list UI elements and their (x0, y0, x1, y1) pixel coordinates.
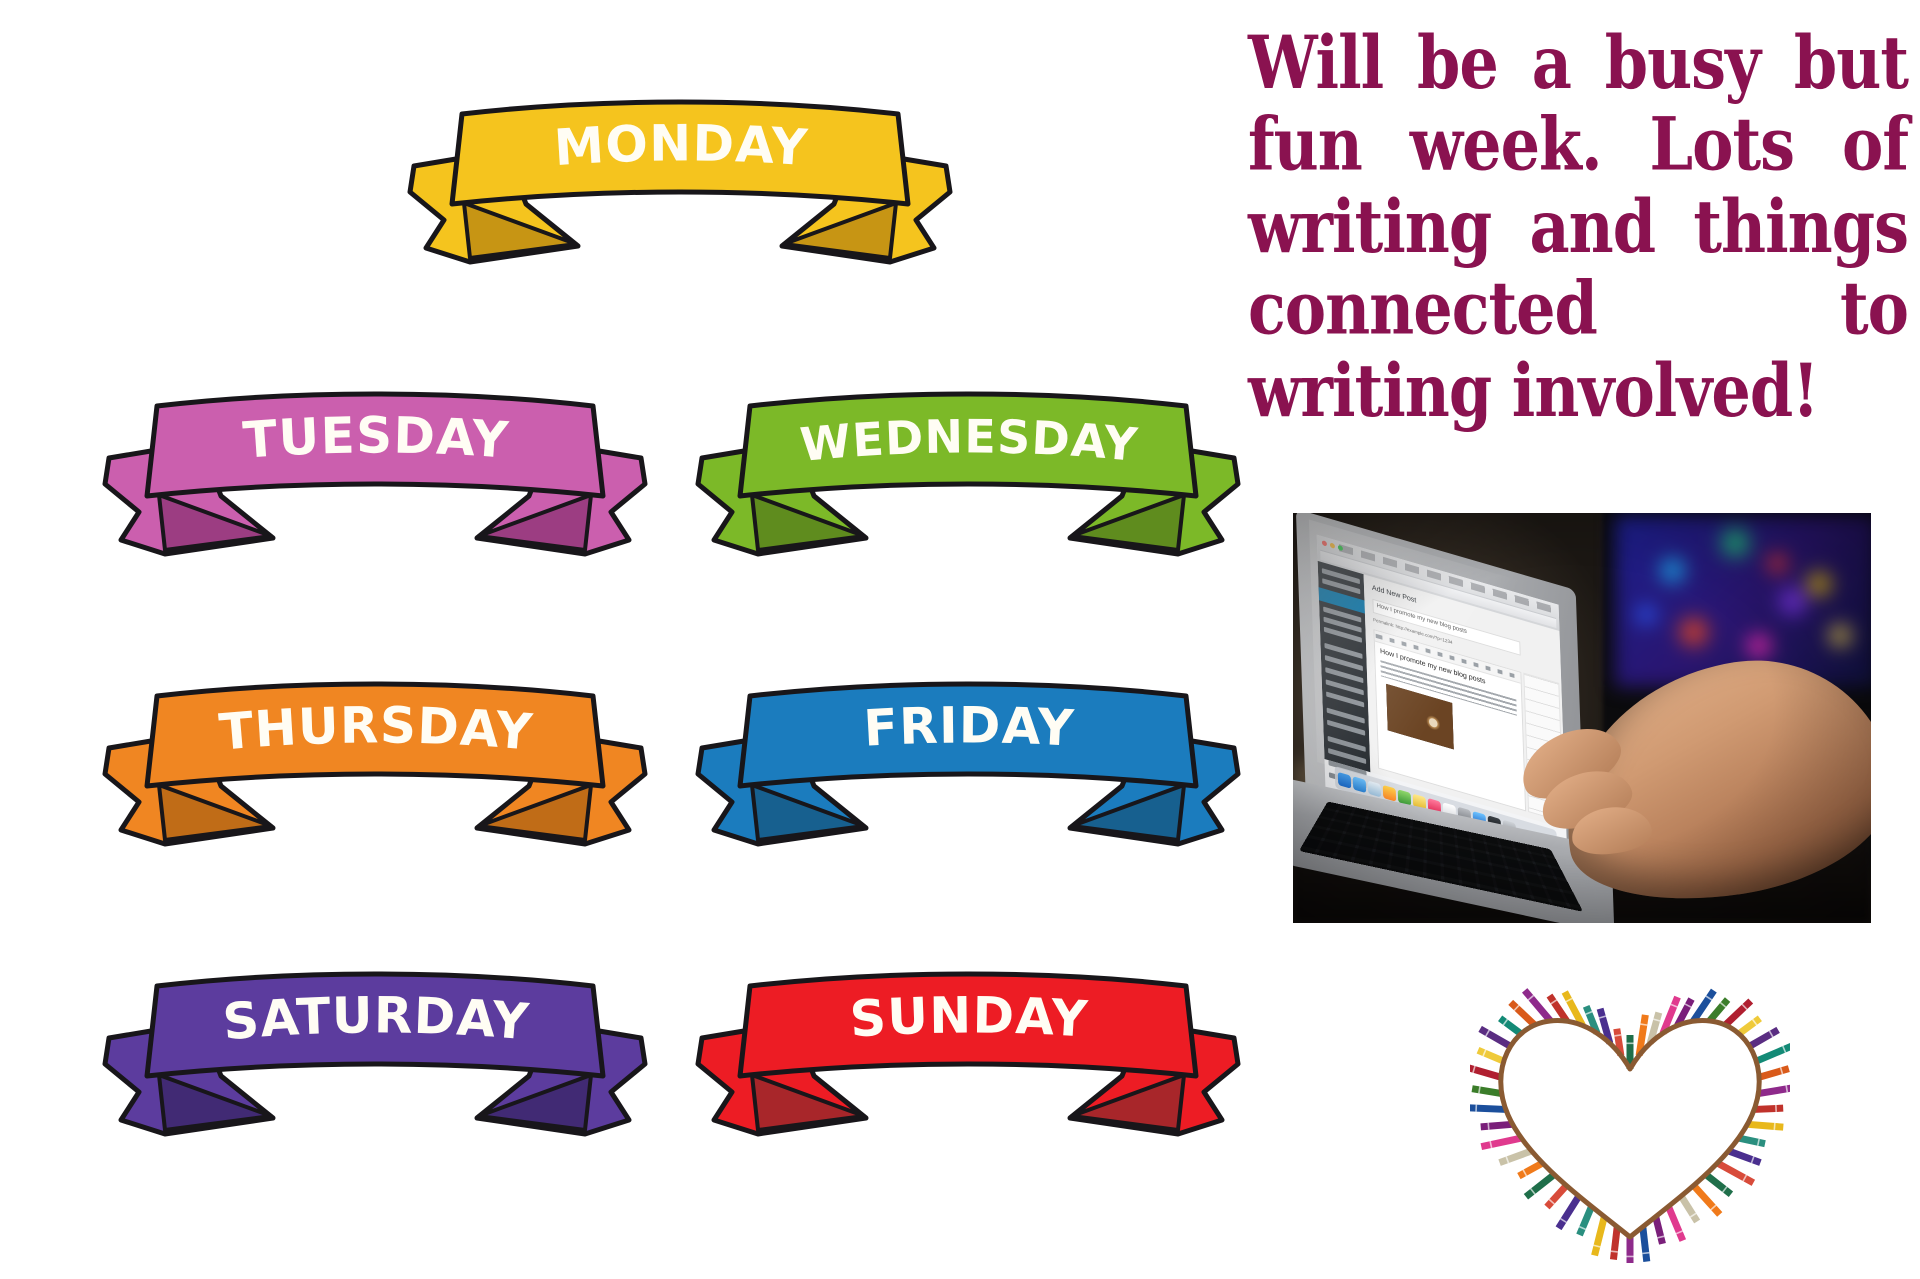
book-spine (1758, 1084, 1790, 1097)
book-spine-band (1627, 1256, 1634, 1258)
banner-label-sunday: SUNDAY (848, 986, 1090, 1048)
book-spine (1758, 1065, 1790, 1080)
banner-friday[interactable]: FRIDAY (688, 682, 1248, 862)
book-heart-svg (1470, 965, 1790, 1265)
banner-shape-saturday: SATURDAY (95, 972, 655, 1152)
book-spine (1556, 1194, 1582, 1230)
banner-shape-wednesday: WEDNESDAY (688, 392, 1248, 572)
close-icon (1322, 540, 1327, 547)
dock-icon-finder[interactable] (1338, 771, 1351, 788)
book-spine (1755, 1042, 1790, 1064)
poster-canvas: MONDAYTUESDAYWEDNESDAYTHURSDAYFRIDAYSATU… (0, 0, 1920, 1279)
heart-book-spines (1470, 988, 1790, 1263)
banner-monday[interactable]: MONDAY (400, 100, 960, 280)
book-heart-illustration (1470, 965, 1790, 1265)
book-spine (1665, 1205, 1686, 1242)
banner-shape-sunday: SUNDAY (688, 972, 1248, 1152)
minimize-icon (1330, 542, 1335, 549)
book-spine-band (1475, 1105, 1477, 1112)
laptop-typing-photo: Add New Post How I promote my new blog p… (1293, 513, 1871, 923)
book-spine (1481, 1135, 1523, 1150)
book-spine (1716, 1160, 1755, 1186)
book-spine (1480, 1121, 1512, 1131)
book-spine-band (1627, 1042, 1634, 1044)
banner-shape-friday: FRIDAY (688, 682, 1248, 862)
banner-label-thursday: THURSDAY (217, 696, 535, 761)
book-spine (1498, 1148, 1532, 1166)
browser-traffic-lights (1322, 540, 1343, 551)
banner-saturday[interactable]: SATURDAY (95, 972, 655, 1152)
banner-label-saturday: SATURDAY (221, 986, 532, 1051)
week-note-text: Will be a busy but fun week. Lots of wri… (1248, 22, 1908, 432)
book-spine (1472, 1085, 1503, 1097)
book-spine (1591, 1216, 1608, 1256)
book-spine (1727, 1148, 1761, 1166)
banner-sunday[interactable]: SUNDAY (688, 972, 1248, 1152)
wp-admin-sidebar (1318, 561, 1371, 772)
book-spine (1748, 1027, 1780, 1050)
banner-shape-thursday: THURSDAY (95, 682, 655, 862)
book-spine (1747, 1121, 1783, 1131)
banner-label-monday: MONDAY (552, 114, 809, 177)
book-spine (1754, 1105, 1783, 1113)
banner-thursday[interactable]: THURSDAY (95, 682, 655, 862)
banner-label-friday: FRIDAY (862, 696, 1076, 757)
dock-icon-safari[interactable] (1368, 780, 1381, 797)
dock-icon-mail[interactable] (1353, 776, 1366, 793)
banner-label-tuesday: TUESDAY (241, 406, 511, 469)
maximize-icon (1338, 545, 1343, 552)
book-spine (1477, 1047, 1506, 1064)
book-spine (1524, 1172, 1557, 1200)
banner-shape-monday: MONDAY (400, 100, 960, 280)
book-spine-band (1775, 1105, 1777, 1112)
banner-label-wednesday: WEDNESDAY (798, 409, 1140, 472)
banner-tuesday[interactable]: TUESDAY (95, 392, 655, 572)
book-spine (1478, 1026, 1512, 1050)
banner-shape-tuesday: TUESDAY (95, 392, 655, 572)
book-spine (1627, 1237, 1634, 1263)
banner-wednesday[interactable]: WEDNESDAY (688, 392, 1248, 572)
book-spine (1639, 1226, 1650, 1262)
